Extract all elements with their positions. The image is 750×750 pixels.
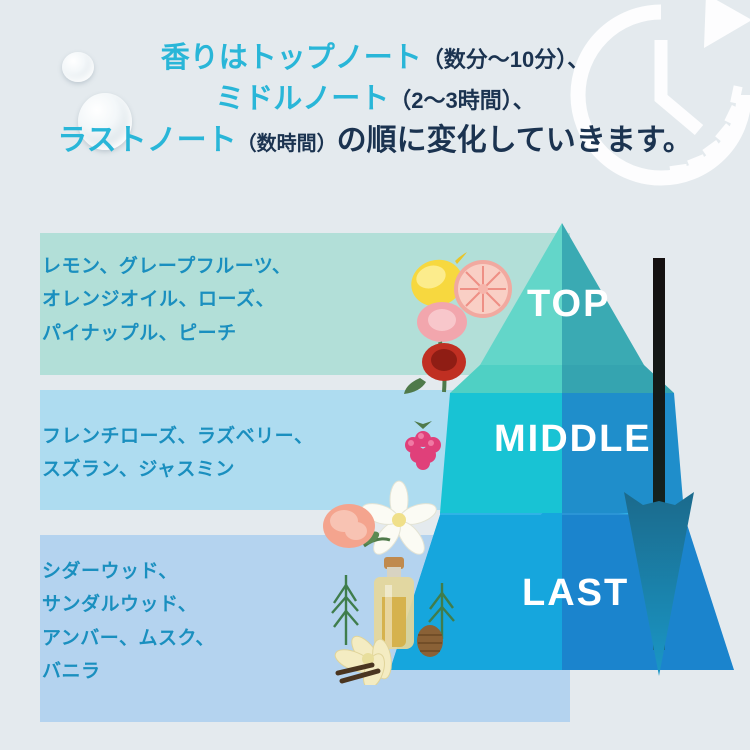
headline-line1-note: （数分〜10分）、 [422,47,589,72]
note-band-middle-text: フレンチローズ、ラズベリー、 スズラン、ジャスミン [42,420,313,487]
headline-line2-note: （2〜3時間）、 [389,88,534,113]
note-line: パイナップル、ピーチ [42,317,291,350]
note-line: シダーウッド、 [42,555,215,588]
note-line: オレンジオイル、ローズ、 [42,283,291,316]
raspberry-illustration [398,415,448,473]
headline-line3-main: ラストノート [57,124,236,157]
pyramid-label-top: TOP [527,283,610,326]
note-line: レモン、グレープフルーツ、 [42,250,291,283]
headline-line2-main: ミドルノート [215,83,389,115]
note-line: サンダルウッド、 [42,588,215,621]
note-line: アンバー、ムスク、 [42,622,215,655]
down-arrow-icon [612,258,708,678]
note-line: フレンチローズ、ラズベリー、 [42,420,313,453]
note-band-last-text: シダーウッド、 サンダルウッド、 アンバー、ムスク、 バニラ [42,555,215,688]
headline-line3-tail: の順に変化していきます。 [337,124,693,157]
infographic-canvas: 香りはトップノート（数分〜10分）、 ミドルノート（2〜3時間）、 ラストノート… [0,0,750,750]
page-headline: 香りはトップノート（数分〜10分）、 ミドルノート（2〜3時間）、 ラストノート… [0,38,750,163]
headline-line1-main: 香りはトップノート [161,42,422,74]
note-line: バニラ [42,655,215,688]
rose-illustration [400,300,486,398]
note-band-top-text: レモン、グレープフルーツ、 オレンジオイル、ローズ、 パイナップル、ピーチ [42,250,291,350]
headline-line3-note: （数時間） [237,133,337,155]
note-line: スズラン、ジャスミン [42,453,313,486]
essential-oil-bottle-illustration [330,545,460,685]
